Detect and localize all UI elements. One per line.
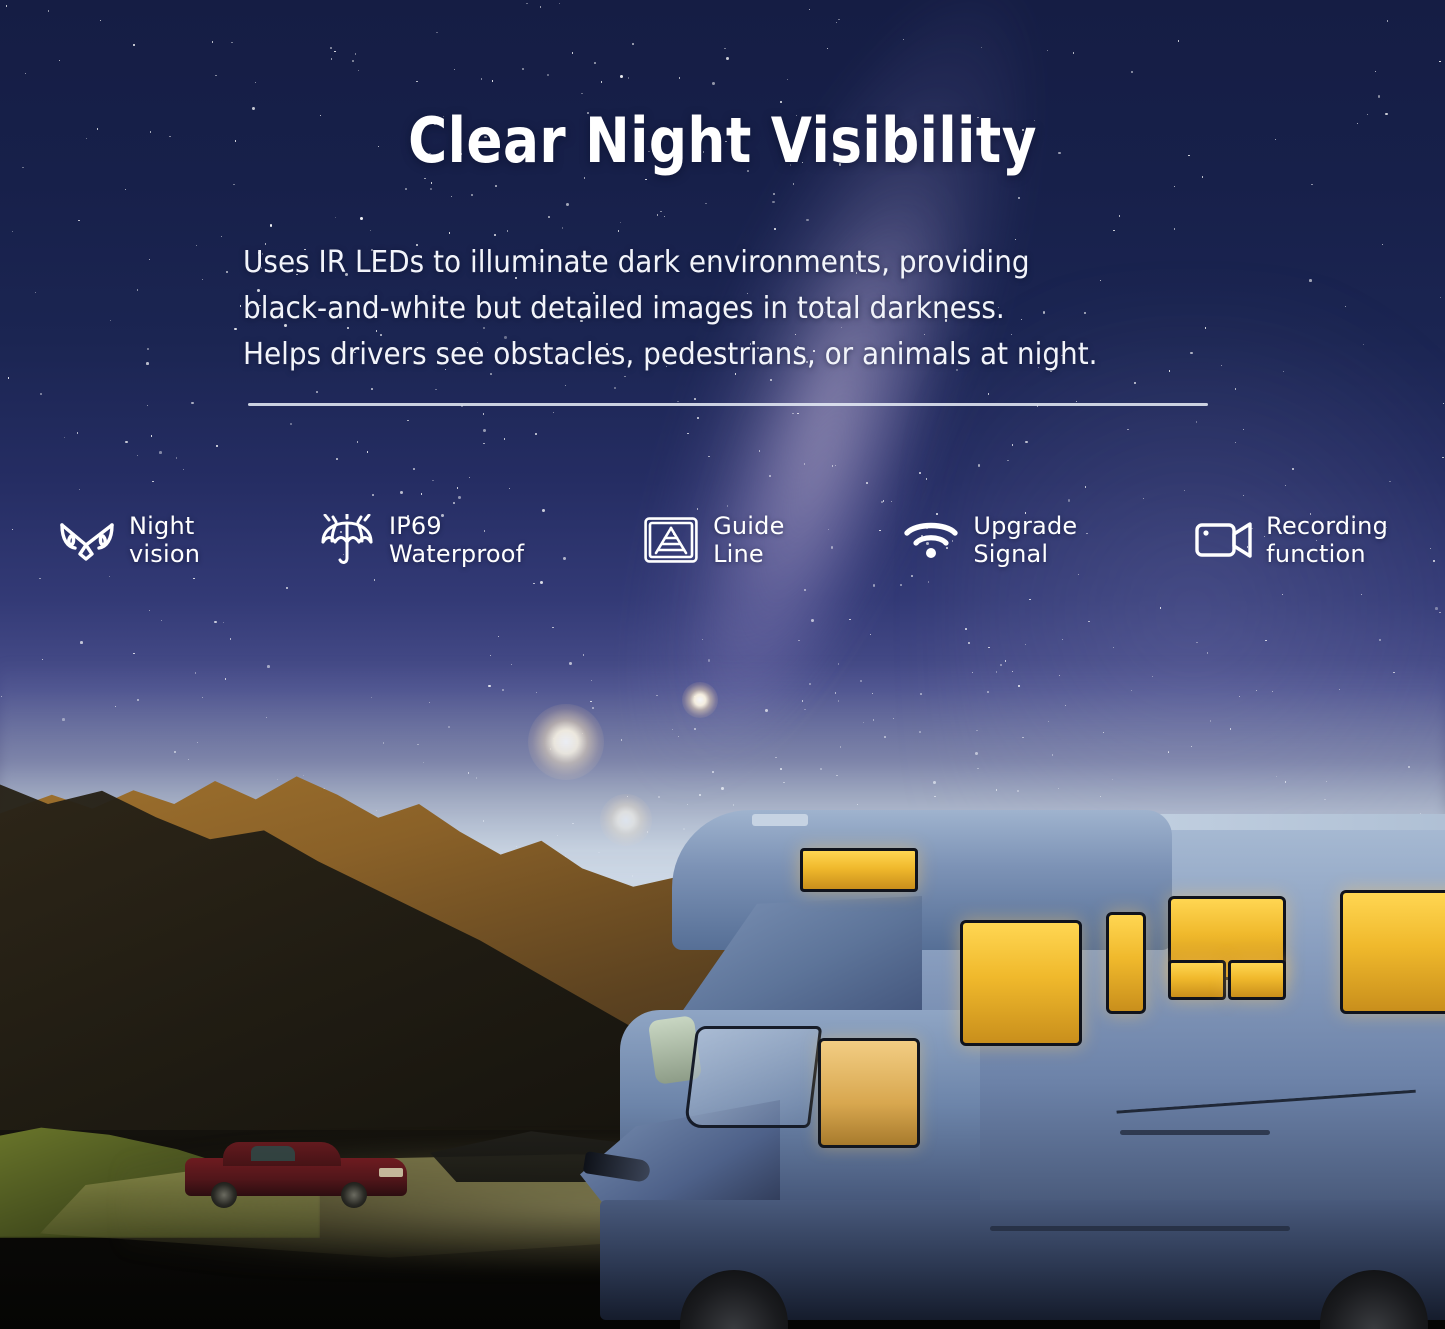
rv-windshield bbox=[684, 1026, 823, 1128]
description-text: Uses IR LEDs to illuminate dark environm… bbox=[243, 240, 1164, 378]
description-line-3: Helps drivers see obstacles, pedestrians… bbox=[243, 332, 1164, 378]
description-line-2: black-and-white but detailed images in t… bbox=[243, 286, 1164, 332]
feature-label-guide-line: Guide Line bbox=[713, 512, 784, 568]
video-camera-icon bbox=[1195, 514, 1253, 566]
rv-roof-vent bbox=[752, 814, 808, 826]
night-vision-product-banner: Clear Night Visibility Uses IR LEDs to i… bbox=[0, 0, 1445, 1329]
owl-night-vision-icon bbox=[58, 514, 116, 566]
rv-trim-line-1 bbox=[990, 1226, 1290, 1231]
feature-label-recording: Recording function bbox=[1266, 512, 1388, 568]
description-line-1: Uses IR LEDs to illuminate dark environm… bbox=[243, 240, 1164, 286]
feature-night-vision: Night vision bbox=[58, 512, 200, 568]
rv-overcab-window bbox=[800, 848, 918, 892]
feature-guide-line: Guide Line bbox=[642, 512, 784, 568]
section-divider bbox=[248, 403, 1208, 406]
rv-side-window-2c bbox=[1228, 960, 1286, 1000]
feature-label-night-vision: Night vision bbox=[129, 512, 200, 568]
feature-recording: Recording function bbox=[1195, 512, 1388, 568]
rv-side-window-1 bbox=[960, 920, 1082, 1046]
wifi-signal-icon bbox=[902, 514, 960, 566]
feature-label-upgrade-signal: Upgrade Signal bbox=[973, 512, 1077, 568]
rv-side-window-3 bbox=[1340, 890, 1445, 1014]
rv-door-window bbox=[1106, 912, 1146, 1014]
feature-upgrade-signal: Upgrade Signal bbox=[902, 512, 1077, 568]
guide-line-monitor-icon bbox=[642, 514, 700, 566]
feature-waterproof: IP69 Waterproof bbox=[318, 512, 524, 568]
feature-label-waterproof: IP69 Waterproof bbox=[389, 512, 524, 568]
feature-list: Night vision IP69 Waterp bbox=[58, 503, 1388, 577]
rv-side-window-2b bbox=[1168, 960, 1226, 1000]
rv-cab-door-window bbox=[818, 1038, 920, 1148]
umbrella-rain-icon bbox=[318, 514, 376, 566]
page-title: Clear Night Visibility bbox=[101, 104, 1344, 177]
rv-camper bbox=[560, 800, 1445, 1329]
